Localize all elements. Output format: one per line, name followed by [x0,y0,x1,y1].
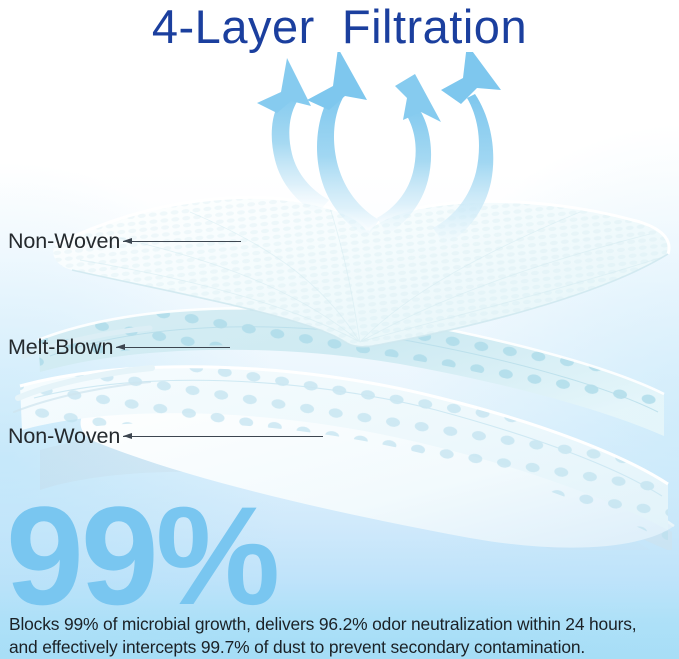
callout-leader-line [123,436,323,437]
callout-melt-blown: Melt-Blown [8,334,230,360]
callout-top-non-woven: Non-Woven [8,228,241,254]
page-title: 4-Layer Filtration [0,0,679,54]
caption-band: Blocks 99% of microbial growth, delivers… [0,608,679,659]
callout-leader-line [123,241,241,242]
callout-label: Melt-Blown [8,335,113,360]
caption-line-1: Blocks 99% of microbial growth, delivers… [9,613,670,636]
callout-leader-line [116,347,230,348]
caption-line-2: and effectively intercepts 99.7% of dust… [9,636,670,659]
callout-label: Non-Woven [8,229,120,254]
product-infographic: 99% 4-Layer Filtration Non-Woven Melt-Bl… [0,0,679,659]
callout-label: Non-Woven [8,424,120,449]
callout-bottom-non-woven: Non-Woven [8,423,323,449]
stat-watermark-99-percent: 99% [6,486,277,626]
